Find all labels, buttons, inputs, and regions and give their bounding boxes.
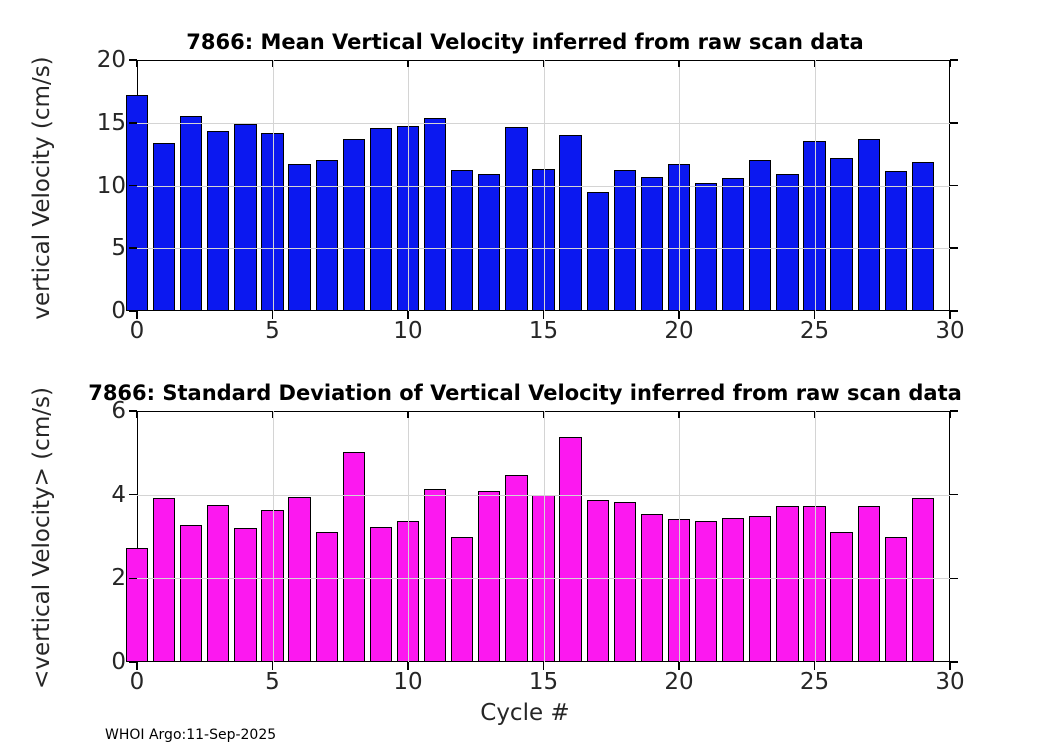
x-axis-tick-mark (136, 411, 138, 418)
bar-mean-vertical-velocity-cycle-8 (343, 139, 365, 311)
bar-mean-vertical-velocity-cycle-12 (451, 170, 473, 311)
y-axis-tick-mark (950, 578, 958, 580)
x-axis-tick-mark (272, 411, 274, 418)
y-axis-tick-mark (950, 185, 958, 187)
gridline-vertical (273, 60, 274, 311)
bar-std-vertical-velocity-cycle-14 (505, 475, 527, 662)
x-axis-tick-mark (949, 60, 951, 67)
x-axis-tick-label-std-vertical-velocity: 5 (265, 669, 280, 695)
y-axis-title-mean-vertical-velocity: vertical Velocity (cm/s) (29, 38, 55, 338)
bar-std-vertical-velocity-cycle-8 (343, 452, 365, 662)
x-axis-tick-label-mean-vertical-velocity: 0 (130, 318, 145, 344)
y-axis-tick-mark (129, 185, 137, 187)
x-axis-tick-label-mean-vertical-velocity: 5 (265, 318, 280, 344)
y-axis-tick-mark (950, 494, 958, 496)
x-axis-tick-label-std-vertical-velocity: 10 (393, 669, 422, 695)
bar-std-vertical-velocity-cycle-19 (641, 514, 663, 663)
bar-mean-vertical-velocity-cycle-17 (587, 192, 609, 311)
y-axis-tick-mark (950, 247, 958, 249)
y-axis-title-std-vertical-velocity: <vertical Velocity> (cm/s) (29, 348, 55, 728)
x-axis-tick-label-mean-vertical-velocity: 30 (935, 318, 964, 344)
x-axis-tick-mark (136, 60, 138, 67)
bar-std-vertical-velocity-cycle-21 (695, 521, 717, 662)
bar-std-vertical-velocity-cycle-9 (370, 527, 392, 662)
bar-mean-vertical-velocity-cycle-3 (207, 131, 229, 311)
y-axis-tick-mark (950, 661, 958, 663)
bar-mean-vertical-velocity-cycle-26 (830, 158, 852, 311)
bar-mean-vertical-velocity-cycle-19 (641, 177, 663, 311)
argo-vertical-velocity-figure: 7866: Mean Vertical Velocity inferred fr… (0, 0, 1050, 750)
bar-mean-vertical-velocity-cycle-2 (180, 116, 202, 311)
bar-std-vertical-velocity-cycle-17 (587, 500, 609, 662)
bar-std-vertical-velocity-cycle-3 (207, 505, 229, 662)
x-axis-tick-mark (272, 60, 274, 67)
x-axis-tick-label-mean-vertical-velocity: 20 (664, 318, 693, 344)
gridline-vertical (544, 60, 545, 311)
x-axis-tick-mark (678, 60, 680, 67)
y-axis-tick-mark (129, 578, 137, 580)
bar-std-vertical-velocity-cycle-28 (885, 537, 907, 663)
gridline-vertical (679, 60, 680, 311)
gridline-vertical (815, 411, 816, 662)
bar-mean-vertical-velocity-cycle-4 (234, 124, 256, 311)
chart-panel-mean-vertical-velocity: 05101520051015202530 (137, 60, 950, 311)
bar-std-vertical-velocity-cycle-18 (614, 502, 636, 662)
x-axis-tick-label-mean-vertical-velocity: 10 (393, 318, 422, 344)
x-axis-tick-mark (814, 60, 816, 67)
bar-mean-vertical-velocity-cycle-7 (316, 160, 338, 311)
y-axis-tick-mark (129, 494, 137, 496)
bar-mean-vertical-velocity-cycle-21 (695, 183, 717, 311)
y-axis-tick-label-std-vertical-velocity: 6 (111, 398, 126, 424)
bar-std-vertical-velocity-cycle-24 (776, 506, 798, 662)
x-axis-tick-mark (814, 411, 816, 418)
y-axis-tick-mark (129, 247, 137, 249)
y-axis-tick-label-std-vertical-velocity: 0 (111, 649, 126, 675)
bar-mean-vertical-velocity-cycle-11 (424, 118, 446, 311)
y-axis-tick-label-mean-vertical-velocity: 20 (97, 47, 126, 73)
x-axis-tick-label-std-vertical-velocity: 15 (529, 669, 558, 695)
chart-title-std-vertical-velocity: 7866: Standard Deviation of Vertical Vel… (0, 381, 1050, 405)
bar-std-vertical-velocity-cycle-6 (288, 497, 310, 662)
bar-mean-vertical-velocity-cycle-23 (749, 160, 771, 311)
bar-std-vertical-velocity-cycle-23 (749, 516, 771, 662)
bar-mean-vertical-velocity-cycle-13 (478, 174, 500, 311)
bar-mean-vertical-velocity-cycle-24 (776, 174, 798, 311)
x-axis-tick-mark (678, 411, 680, 418)
bar-mean-vertical-velocity-cycle-9 (370, 128, 392, 311)
bar-std-vertical-velocity-cycle-7 (316, 532, 338, 662)
bar-mean-vertical-velocity-cycle-22 (722, 178, 744, 311)
y-axis-tick-mark (129, 122, 137, 124)
bar-mean-vertical-velocity-cycle-14 (505, 127, 527, 311)
y-axis-tick-label-mean-vertical-velocity: 10 (97, 173, 126, 199)
x-axis-tick-label-mean-vertical-velocity: 25 (800, 318, 829, 344)
y-axis-tick-mark (950, 122, 958, 124)
bar-mean-vertical-velocity-cycle-1 (153, 143, 175, 311)
bar-mean-vertical-velocity-cycle-28 (885, 171, 907, 311)
y-axis-tick-label-mean-vertical-velocity: 5 (111, 235, 126, 261)
bar-mean-vertical-velocity-cycle-27 (858, 139, 880, 311)
x-axis-tick-label-std-vertical-velocity: 25 (800, 669, 829, 695)
gridline-vertical (408, 60, 409, 311)
bar-std-vertical-velocity-cycle-0 (126, 548, 148, 662)
figure-footer-credit: WHOI Argo:11-Sep-2025 (105, 727, 276, 743)
x-axis-title: Cycle # (0, 700, 1050, 726)
y-axis-tick-label-std-vertical-velocity: 2 (111, 565, 126, 591)
bar-std-vertical-velocity-cycle-1 (153, 498, 175, 662)
bar-std-vertical-velocity-cycle-12 (451, 537, 473, 663)
bar-mean-vertical-velocity-cycle-18 (614, 170, 636, 311)
gridline-vertical (273, 411, 274, 662)
y-axis-tick-label-mean-vertical-velocity: 15 (97, 110, 126, 136)
chart-panel-std-vertical-velocity: 0246051015202530 (137, 411, 950, 662)
bar-std-vertical-velocity-cycle-26 (830, 532, 852, 662)
bar-std-vertical-velocity-cycle-2 (180, 525, 202, 662)
x-axis-tick-mark (407, 411, 409, 418)
bar-std-vertical-velocity-cycle-27 (858, 506, 880, 662)
bar-std-vertical-velocity-cycle-13 (478, 491, 500, 662)
gridline-vertical (544, 411, 545, 662)
y-axis-tick-label-mean-vertical-velocity: 0 (111, 298, 126, 324)
bar-mean-vertical-velocity-cycle-16 (559, 135, 581, 311)
x-axis-tick-label-std-vertical-velocity: 0 (130, 669, 145, 695)
x-axis-tick-mark (543, 411, 545, 418)
y-axis-tick-mark (950, 59, 958, 61)
bar-std-vertical-velocity-cycle-11 (424, 489, 446, 662)
gridline-vertical (408, 411, 409, 662)
y-axis-tick-mark (950, 310, 958, 312)
bar-std-vertical-velocity-cycle-29 (912, 498, 934, 662)
x-axis-tick-label-std-vertical-velocity: 20 (664, 669, 693, 695)
bar-mean-vertical-velocity-cycle-0 (126, 95, 148, 311)
x-axis-tick-mark (407, 60, 409, 67)
x-axis-tick-mark (949, 411, 951, 418)
y-axis-tick-label-std-vertical-velocity: 4 (111, 482, 126, 508)
x-axis-tick-label-mean-vertical-velocity: 15 (529, 318, 558, 344)
gridline-vertical (815, 60, 816, 311)
x-axis-tick-mark (543, 60, 545, 67)
gridline-vertical (679, 411, 680, 662)
bar-std-vertical-velocity-cycle-4 (234, 528, 256, 662)
bar-std-vertical-velocity-cycle-16 (559, 437, 581, 662)
bar-std-vertical-velocity-cycle-22 (722, 518, 744, 662)
x-axis-tick-label-std-vertical-velocity: 30 (935, 669, 964, 695)
y-axis-tick-mark (950, 410, 958, 412)
chart-title-mean-vertical-velocity: 7866: Mean Vertical Velocity inferred fr… (0, 30, 1050, 54)
